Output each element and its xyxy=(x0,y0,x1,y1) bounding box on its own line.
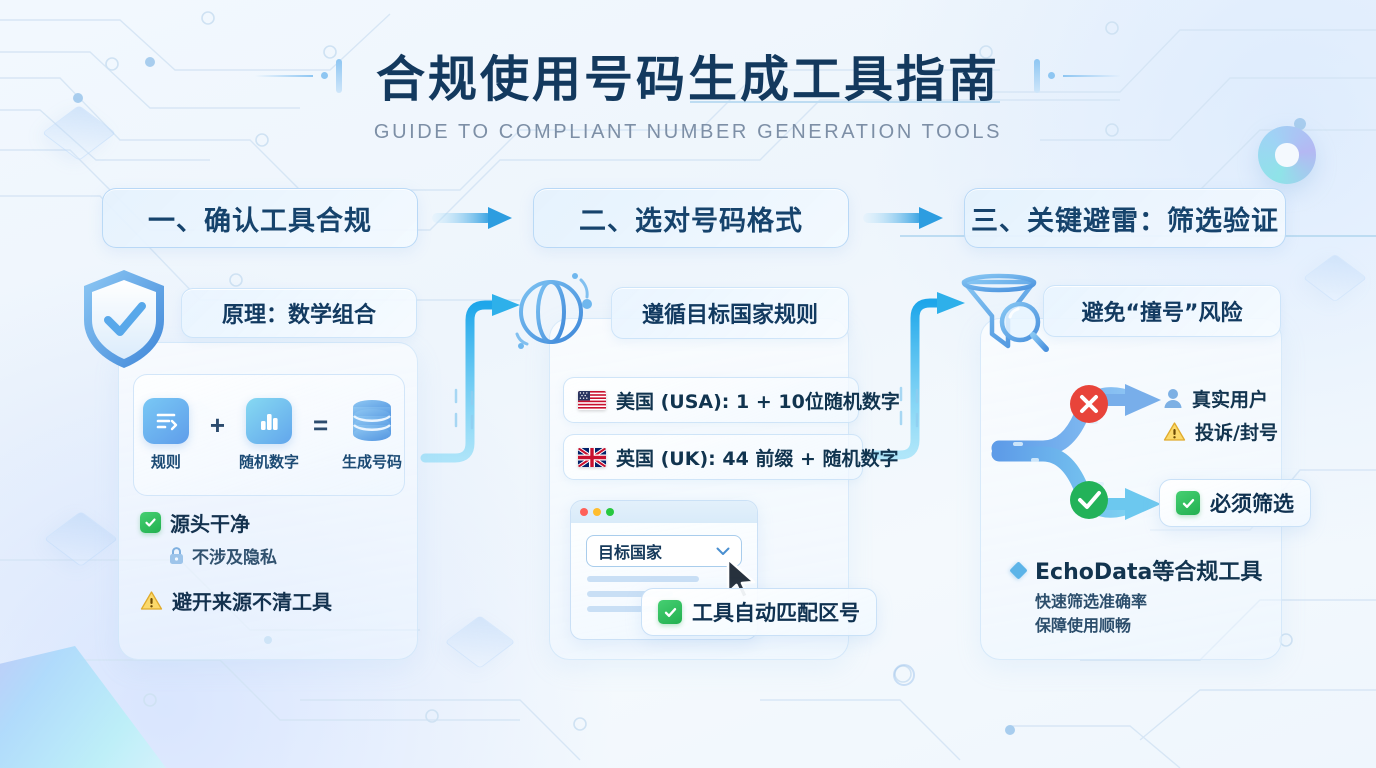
us-flag-icon xyxy=(578,391,606,410)
chevron-down-icon xyxy=(716,547,730,556)
formula-item-random: 随机数字 xyxy=(237,398,301,472)
bullet-clean-source: 源头干净 xyxy=(140,508,410,537)
diamond-bullet-icon xyxy=(1009,561,1027,579)
country-row-usa[interactable]: 美国 (USA): 1 + 10位随机数字 xyxy=(563,377,859,423)
glass-shard-decor xyxy=(0,646,180,768)
column-1-heading: 原理：数学组合 xyxy=(181,288,417,338)
user-icon xyxy=(1163,388,1183,409)
formula-item-rule: 规则 xyxy=(134,398,198,472)
tool-benefit-1: 快速筛选准确率 xyxy=(1035,590,1272,614)
ring-decor xyxy=(893,664,915,686)
bar-chart-icon xyxy=(246,398,292,444)
formula-label-output: 生成号码 xyxy=(342,451,402,472)
outcome-complaint-ban-label: 投诉/封号 xyxy=(1195,418,1278,445)
window-maximize-dot[interactable] xyxy=(606,508,614,516)
browser-titlebar xyxy=(571,501,757,523)
target-country-select[interactable]: 目标国家 xyxy=(586,535,742,567)
title-decor-right xyxy=(1034,59,1121,93)
error-circle-icon xyxy=(1070,385,1108,423)
title-decor-left xyxy=(255,59,342,93)
formula-label-rule: 规则 xyxy=(151,451,181,472)
must-filter-badge-label: 必须筛选 xyxy=(1210,488,1294,518)
column-3-heading: 避免“撞号”风险 xyxy=(1043,285,1281,337)
step-pill-2[interactable]: 二、选对号码格式 xyxy=(533,188,849,248)
page-title: 合规使用号码生成工具指南 xyxy=(376,40,1000,111)
target-country-select-value: 目标国家 xyxy=(598,539,662,563)
shield-check-icon xyxy=(78,266,170,372)
warning-icon xyxy=(140,590,163,611)
lock-icon xyxy=(168,546,185,565)
risk-flow-diagram xyxy=(985,372,1185,534)
tool-recommendation-title: EchoData等合规工具 xyxy=(1035,554,1262,586)
outcome-real-user-label: 真实用户 xyxy=(1192,385,1268,412)
step-arrow-1-to-2 xyxy=(432,204,518,232)
step-pill-1[interactable]: 一、确认工具合规 xyxy=(102,188,418,248)
warning-icon xyxy=(1163,421,1186,442)
auto-match-badge: 工具自动匹配区号 xyxy=(641,588,877,636)
column-1-bullets: 源头干净 不涉及隐私 避开来源不清工具 xyxy=(140,508,410,621)
cube-decor-4 xyxy=(1303,254,1368,303)
cube-decor-2 xyxy=(44,511,118,567)
step-pill-3[interactable]: 三、关键避雷：筛选验证 xyxy=(964,188,1286,248)
browser-skeleton-line-1 xyxy=(587,576,699,582)
window-close-dot[interactable] xyxy=(580,508,588,516)
globe-icon xyxy=(505,266,597,358)
check-icon xyxy=(140,512,161,533)
must-filter-badge: 必须筛选 xyxy=(1159,479,1311,527)
infographic-canvas: 合规使用号码生成工具指南 GUIDE TO COMPLIANT NUMBER G… xyxy=(0,0,1376,768)
bullet-no-privacy-label: 不涉及隐私 xyxy=(192,543,277,568)
country-row-uk-label: 英国 (UK): 44 前缀 + 随机数字 xyxy=(616,444,899,471)
formula-plus-operator: + xyxy=(210,410,225,461)
formula-card: 规则 + 随机数字 = xyxy=(133,374,405,496)
step-header-row: 一、确认工具合规 二、选对号码格式 三、关键避雷：筛选验证 xyxy=(0,188,1376,248)
page-subtitle: GUIDE TO COMPLIANT NUMBER GENERATION TOO… xyxy=(0,121,1376,144)
cube-decor-3 xyxy=(445,615,516,668)
bullet-avoid-unknown: 避开来源不清工具 xyxy=(140,586,410,615)
bullet-no-privacy: 不涉及隐私 xyxy=(168,543,410,568)
tool-recommendation: EchoData等合规工具 快速筛选准确率 保障使用顺畅 xyxy=(1012,554,1272,638)
bullet-clean-source-label: 源头干净 xyxy=(170,508,250,537)
bullet-avoid-unknown-label: 避开来源不清工具 xyxy=(172,586,332,615)
outcome-real-user: 真实用户 xyxy=(1163,385,1268,412)
rule-icon xyxy=(143,398,189,444)
formula-item-output: 生成号码 xyxy=(340,398,404,472)
outcome-complaint-ban: 投诉/封号 xyxy=(1163,418,1278,445)
country-row-uk[interactable]: 英国 (UK): 44 前缀 + 随机数字 xyxy=(563,434,863,480)
tool-benefit-2: 保障使用顺畅 xyxy=(1035,614,1272,638)
step-arrow-2-to-3 xyxy=(863,204,949,232)
auto-match-badge-label: 工具自动匹配区号 xyxy=(692,597,860,627)
success-circle-icon xyxy=(1070,481,1108,519)
formula-equals-operator: = xyxy=(313,410,328,461)
check-icon xyxy=(1176,491,1200,515)
database-icon xyxy=(347,398,397,444)
window-minimize-dot[interactable] xyxy=(593,508,601,516)
page-header: 合规使用号码生成工具指南 GUIDE TO COMPLIANT NUMBER G… xyxy=(0,40,1376,144)
country-row-usa-label: 美国 (USA): 1 + 10位随机数字 xyxy=(616,387,900,414)
uk-flag-icon xyxy=(578,448,606,467)
formula-label-random: 随机数字 xyxy=(239,451,299,472)
column-2-heading: 遵循目标国家规则 xyxy=(611,287,849,339)
check-icon xyxy=(658,600,682,624)
funnel-search-icon xyxy=(958,272,1056,364)
